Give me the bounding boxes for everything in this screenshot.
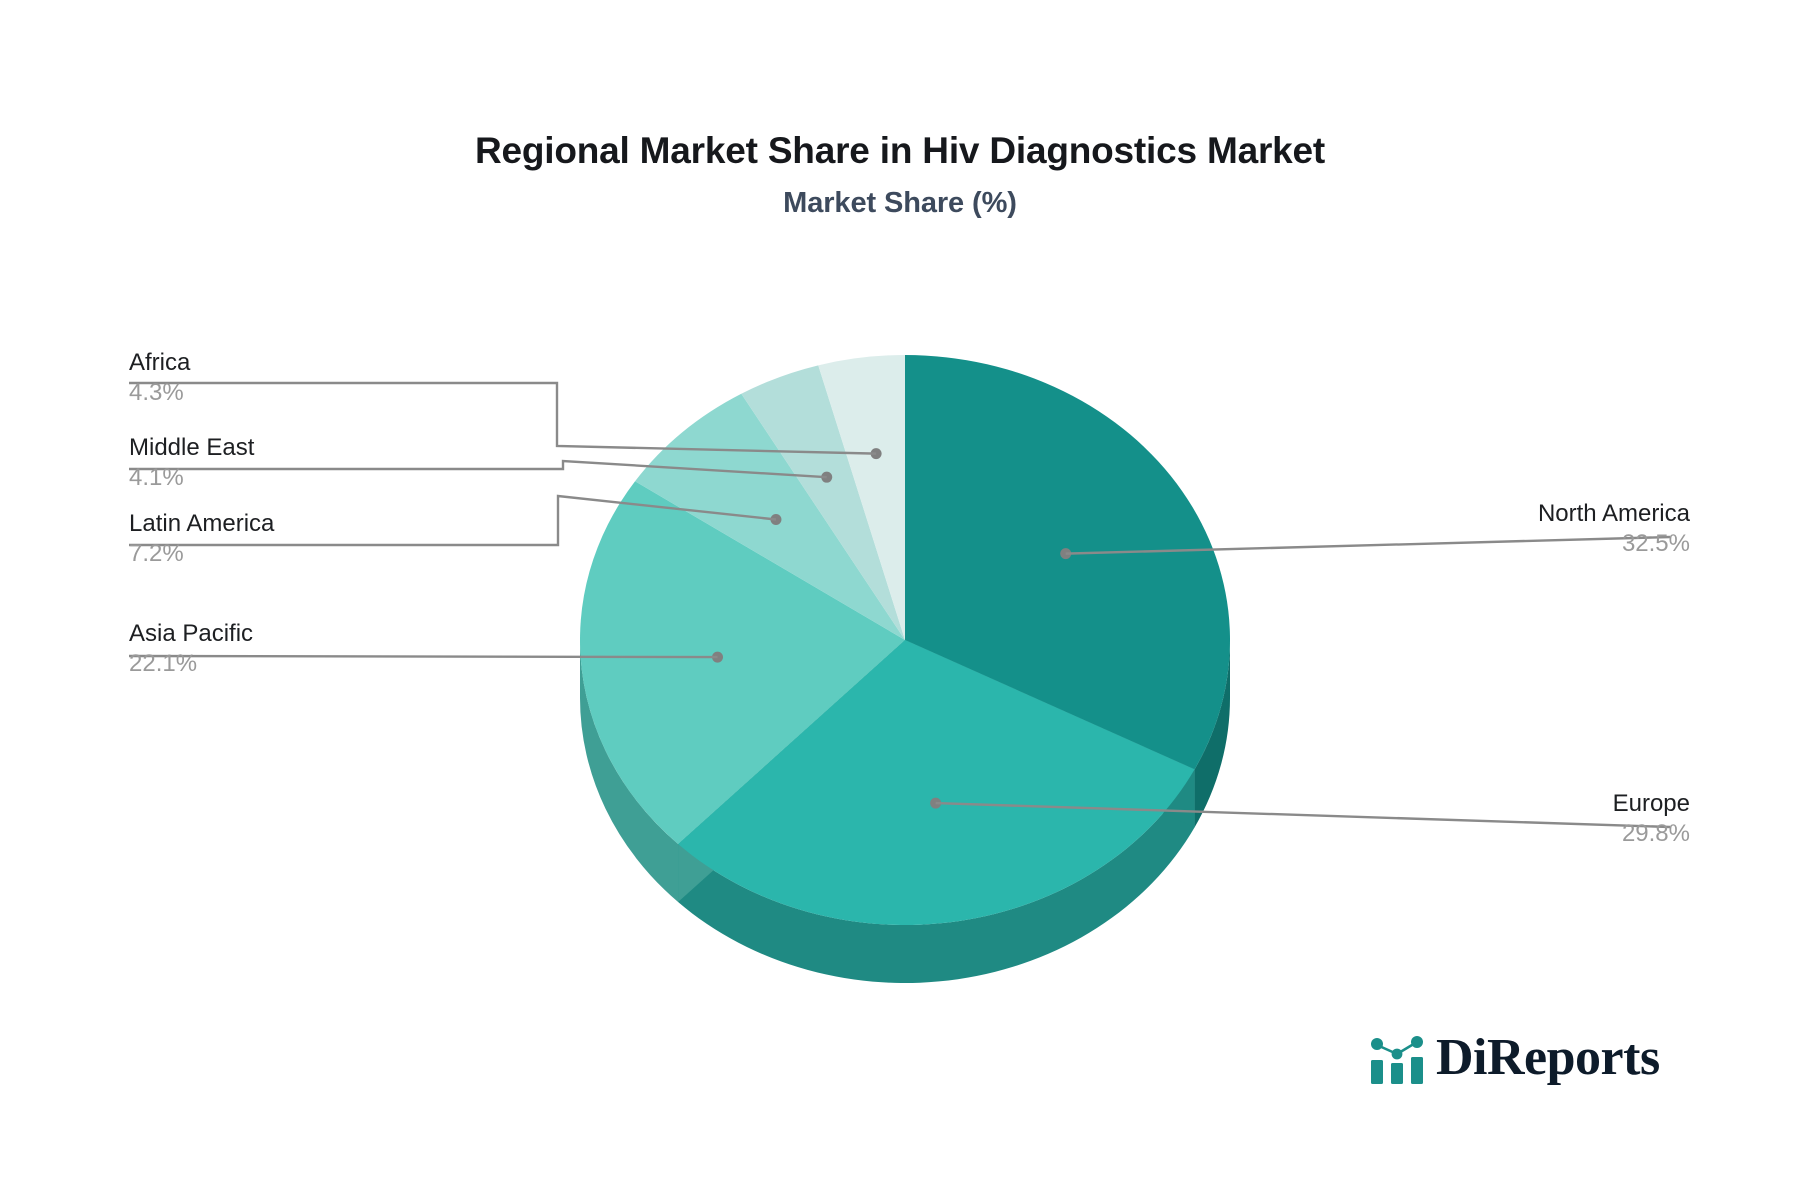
callout-north-america: North America 32.5% (1538, 499, 1690, 559)
callout-asia-pacific-value: 22.1% (129, 649, 253, 679)
callout-latin-america-value: 7.2% (129, 539, 274, 569)
callout-africa-value: 4.3% (129, 378, 190, 408)
callout-latin-america-label: Latin America (129, 509, 274, 539)
callout-north-america-value: 32.5% (1538, 529, 1690, 559)
callout-europe-value: 29.8% (1613, 819, 1690, 849)
chart-canvas: Regional Market Share in Hiv Diagnostics… (0, 0, 1800, 1196)
callout-middle-east: Middle East 4.1% (129, 433, 254, 493)
brand-wordmark: DiReports (1436, 1032, 1660, 1084)
bar-chart-icon (1368, 1030, 1426, 1086)
callout-africa-label: Africa (129, 348, 190, 378)
callout-asia-pacific-label: Asia Pacific (129, 619, 253, 649)
callout-europe-label: Europe (1613, 789, 1690, 819)
callout-asia-pacific: Asia Pacific 22.1% (129, 619, 253, 679)
callout-middle-east-value: 4.1% (129, 463, 254, 493)
callout-europe: Europe 29.8% (1613, 789, 1690, 849)
callout-north-america-label: North America (1538, 499, 1690, 529)
pie-chart-graphic (0, 0, 1800, 1196)
callout-africa: Africa 4.3% (129, 348, 190, 408)
brand-logo: DiReports (1368, 1030, 1660, 1086)
pie-top-faces (580, 355, 1230, 925)
callout-latin-america: Latin America 7.2% (129, 509, 274, 569)
callout-middle-east-label: Middle East (129, 433, 254, 463)
